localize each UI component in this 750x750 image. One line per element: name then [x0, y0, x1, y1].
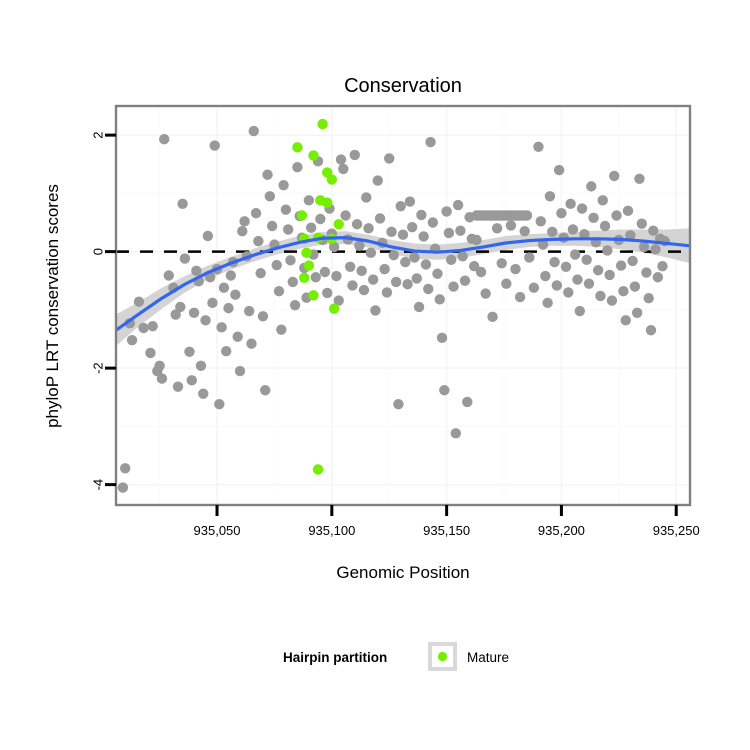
- data-point: [421, 259, 431, 269]
- data-point: [148, 321, 158, 331]
- data-point: [313, 464, 323, 474]
- data-point: [565, 199, 575, 209]
- data-point: [154, 361, 164, 371]
- data-point: [368, 274, 378, 284]
- data-point: [322, 288, 332, 298]
- data-point: [258, 311, 268, 321]
- data-point: [418, 231, 428, 241]
- data-point: [428, 217, 438, 227]
- chart-title: Conservation: [344, 75, 462, 97]
- x-axis-tick-label: 935,150: [423, 523, 470, 538]
- data-point: [536, 216, 546, 226]
- data-point: [400, 257, 410, 267]
- data-point: [432, 269, 442, 279]
- data-point: [216, 322, 226, 332]
- data-point: [641, 267, 651, 277]
- data-point: [120, 463, 130, 473]
- data-point: [345, 262, 355, 272]
- data-point: [446, 255, 456, 265]
- data-point: [623, 206, 633, 216]
- data-point: [451, 428, 461, 438]
- data-point: [476, 267, 486, 277]
- data-point: [524, 252, 534, 262]
- data-point: [618, 286, 628, 296]
- data-point: [363, 223, 373, 233]
- data-point: [584, 278, 594, 288]
- data-point: [563, 287, 573, 297]
- data-point: [347, 280, 357, 290]
- data-point: [547, 227, 557, 237]
- data-point: [311, 272, 321, 282]
- data-point: [600, 221, 610, 231]
- data-point: [331, 271, 341, 281]
- data-point: [471, 235, 481, 245]
- data-point: [650, 244, 660, 254]
- x-axis-tick-label: 935,200: [538, 523, 585, 538]
- data-point: [405, 196, 415, 206]
- data-point: [219, 283, 229, 293]
- data-point: [575, 306, 585, 316]
- data-point: [646, 325, 656, 335]
- data-point: [396, 201, 406, 211]
- data-point: [455, 225, 465, 235]
- data-point: [249, 126, 259, 136]
- x-axis-tick-label: 935,250: [653, 523, 700, 538]
- data-point: [196, 361, 206, 371]
- data-point: [340, 210, 350, 220]
- data-point: [609, 171, 619, 181]
- data-point: [180, 253, 190, 263]
- data-point: [568, 224, 578, 234]
- y-axis-tick-label: -2: [91, 362, 106, 374]
- data-point: [554, 165, 564, 175]
- data-point: [189, 308, 199, 318]
- data-point: [630, 281, 640, 291]
- data-point: [334, 219, 344, 229]
- data-point: [435, 294, 445, 304]
- data-point: [423, 284, 433, 294]
- x-axis-tick-label: 935,050: [194, 523, 241, 538]
- data-point: [595, 291, 605, 301]
- data-point: [329, 304, 339, 314]
- data-point: [354, 241, 364, 251]
- data-point: [244, 306, 254, 316]
- data-point: [175, 302, 185, 312]
- data-point: [529, 283, 539, 293]
- data-point: [393, 399, 403, 409]
- data-point: [203, 231, 213, 241]
- data-point: [157, 373, 167, 383]
- data-point: [320, 267, 330, 277]
- data-point: [214, 399, 224, 409]
- data-point: [556, 208, 566, 218]
- data-point: [336, 154, 346, 164]
- data-point: [306, 223, 316, 233]
- data-point: [621, 315, 631, 325]
- data-point: [412, 273, 422, 283]
- panel-background: [116, 106, 690, 505]
- data-point: [308, 290, 318, 300]
- data-point: [327, 174, 337, 184]
- y-axis-title: phyloP LRT conservation scores: [43, 184, 62, 428]
- data-point: [173, 382, 183, 392]
- data-point: [226, 270, 236, 280]
- data-point: [382, 287, 392, 297]
- data-point: [510, 264, 520, 274]
- data-point: [278, 180, 288, 190]
- plot-panel: 935,050935,100935,150935,200935,25020-2-…: [91, 106, 700, 538]
- data-point: [492, 223, 502, 233]
- data-point: [448, 281, 458, 291]
- data-point: [506, 220, 516, 230]
- data-point: [616, 260, 626, 270]
- legend-title: Hairpin partition: [283, 650, 387, 665]
- data-point: [460, 276, 470, 286]
- data-point: [409, 252, 419, 262]
- data-point: [437, 333, 447, 343]
- data-point: [586, 181, 596, 191]
- data-point: [246, 338, 256, 348]
- data-point: [356, 266, 366, 276]
- data-point: [253, 236, 263, 246]
- data-point: [288, 277, 298, 287]
- chart-canvas: Conservation 935,050935,100935,150935,20…: [0, 0, 750, 750]
- data-point: [501, 278, 511, 288]
- data-point: [239, 216, 249, 226]
- data-point: [389, 250, 399, 260]
- data-point: [572, 274, 582, 284]
- data-point: [223, 303, 233, 313]
- data-point: [127, 335, 137, 345]
- data-point: [255, 268, 265, 278]
- data-point: [177, 199, 187, 209]
- data-point: [164, 270, 174, 280]
- data-point: [301, 248, 311, 258]
- data-point: [292, 142, 302, 152]
- data-point: [607, 295, 617, 305]
- data-point: [598, 195, 608, 205]
- data-point: [210, 140, 220, 150]
- data-point: [350, 150, 360, 160]
- data-point: [276, 324, 286, 334]
- data-point: [184, 347, 194, 357]
- data-point: [230, 290, 240, 300]
- data-point: [299, 273, 309, 283]
- data-point: [533, 142, 543, 152]
- data-point: [593, 265, 603, 275]
- data-point: [304, 195, 314, 205]
- data-point: [540, 271, 550, 281]
- x-axis-tick-label: 935,100: [308, 523, 355, 538]
- data-point: [545, 191, 555, 201]
- data-point: [627, 256, 637, 266]
- data-point: [134, 297, 144, 307]
- data-point: [453, 200, 463, 210]
- data-point: [352, 219, 362, 229]
- data-point: [561, 262, 571, 272]
- data-point: [138, 323, 148, 333]
- data-point: [359, 285, 369, 295]
- data-point: [457, 251, 467, 261]
- data-point: [497, 258, 507, 268]
- x-axis-title: Genomic Position: [336, 563, 469, 582]
- data-point: [611, 210, 621, 220]
- data-point: [588, 213, 598, 223]
- data-point: [462, 397, 472, 407]
- data-point: [444, 228, 454, 238]
- data-point: [315, 214, 325, 224]
- legend-key-dot: [438, 652, 447, 661]
- data-point: [386, 227, 396, 237]
- data-point: [639, 242, 649, 252]
- y-axis-tick-label: -4: [91, 479, 106, 491]
- data-point: [637, 218, 647, 228]
- data-point: [653, 272, 663, 282]
- data-point: [232, 331, 242, 341]
- data-point: [207, 298, 217, 308]
- data-point: [145, 348, 155, 358]
- data-point: [379, 264, 389, 274]
- data-point: [308, 150, 318, 160]
- conservation-chart: Conservation 935,050935,100935,150935,20…: [0, 0, 750, 750]
- data-point: [402, 279, 412, 289]
- data-point: [549, 257, 559, 267]
- data-point: [439, 385, 449, 395]
- data-point: [366, 248, 376, 258]
- data-point: [634, 174, 644, 184]
- data-point: [414, 302, 424, 312]
- data-point: [515, 292, 525, 302]
- data-point: [552, 280, 562, 290]
- data-point: [235, 366, 245, 376]
- data-point: [200, 315, 210, 325]
- data-point: [272, 260, 282, 270]
- data-point: [480, 288, 490, 298]
- data-point: [581, 255, 591, 265]
- data-point: [391, 277, 401, 287]
- data-point: [375, 213, 385, 223]
- data-point: [398, 230, 408, 240]
- data-point: [283, 224, 293, 234]
- data-point: [159, 134, 169, 144]
- data-point: [632, 308, 642, 318]
- data-point: [542, 298, 552, 308]
- data-point: [187, 375, 197, 385]
- data-point: [198, 389, 208, 399]
- data-point: [416, 210, 426, 220]
- data-point: [281, 204, 291, 214]
- data-point: [274, 286, 284, 296]
- data-point: [407, 222, 417, 232]
- data-point: [643, 293, 653, 303]
- data-point: [441, 206, 451, 216]
- data-point: [290, 300, 300, 310]
- data-point: [370, 305, 380, 315]
- data-point: [322, 197, 332, 207]
- data-point: [304, 260, 314, 270]
- data-point: [262, 170, 272, 180]
- data-point: [657, 261, 667, 271]
- legend-item-label[interactable]: Mature: [467, 650, 509, 665]
- data-point: [251, 208, 261, 218]
- data-point: [384, 153, 394, 163]
- data-point: [297, 210, 307, 220]
- data-point: [267, 221, 277, 231]
- data-point: [285, 255, 295, 265]
- data-point: [487, 312, 497, 322]
- data-point: [221, 346, 231, 356]
- y-axis-tick-label: 2: [91, 132, 106, 139]
- data-point: [118, 482, 128, 492]
- data-point: [425, 137, 435, 147]
- data-point: [522, 210, 532, 220]
- data-point: [260, 385, 270, 395]
- data-point: [519, 226, 529, 236]
- data-point: [602, 245, 612, 255]
- data-point: [648, 225, 658, 235]
- data-point: [292, 162, 302, 172]
- data-point: [373, 175, 383, 185]
- y-axis-tick-label: 0: [91, 248, 106, 255]
- data-point: [604, 270, 614, 280]
- data-point: [265, 191, 275, 201]
- data-point: [317, 119, 327, 129]
- data-point: [570, 249, 580, 259]
- data-point: [338, 164, 348, 174]
- data-point: [237, 226, 247, 236]
- data-point: [191, 266, 201, 276]
- data-point: [577, 203, 587, 213]
- data-point: [361, 192, 371, 202]
